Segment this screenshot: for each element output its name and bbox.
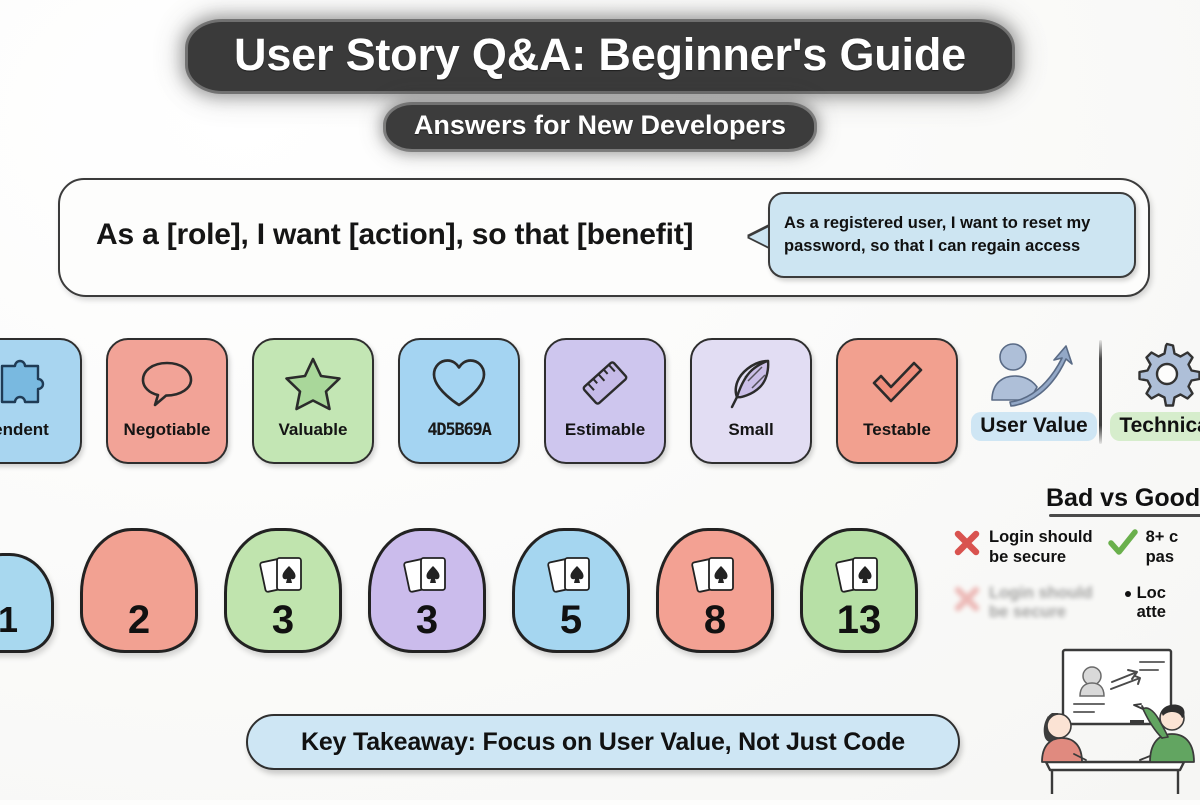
playing-cards-icon (545, 553, 597, 606)
good-column: 8+ cpas Locatte (1107, 528, 1179, 623)
story-point-3b[interactable]: 3 (368, 528, 486, 653)
invest-card-negotiable[interactable]: Negotiable (106, 338, 228, 464)
subtitle-container: Answers for New Developers (0, 105, 1200, 149)
invest-card-independent[interactable]: endent (0, 338, 82, 464)
star-icon (284, 352, 342, 414)
user-story-formula: As a [role], I want [action], so that [b… (96, 218, 693, 252)
technical-label: Technical (1110, 412, 1200, 441)
invest-label-estimable: Estimable (565, 420, 645, 440)
invest-card-row: endent Negotiable Valuable (0, 338, 958, 464)
bad-vs-good-columns: Login shouldbe secure Login shouldbe sec… (952, 528, 1178, 623)
green-check-icon (1107, 528, 1139, 563)
bad-vs-good-heading: Bad vs Good (1046, 484, 1200, 513)
invest-label-independent: endent (0, 420, 49, 440)
panel-divider (1099, 340, 1102, 444)
story-point-value: 3 (416, 600, 438, 640)
title-container: User Story Q&A: Beginner's Guide (0, 22, 1200, 91)
story-point-1[interactable]: 1 (0, 553, 54, 653)
bad-column: Login shouldbe secure Login shouldbe sec… (952, 528, 1093, 623)
bad-item-text: Login shouldbe secure (989, 528, 1093, 568)
key-takeaway-text: Key Takeaway: Focus on User Value, Not J… (301, 728, 905, 757)
infographic-canvas: User Story Q&A: Beginner's Guide Answers… (0, 0, 1200, 800)
invest-card-estimable[interactable]: Estimable (544, 338, 666, 464)
story-point-row: 1 2 3 3 (0, 528, 918, 653)
story-point-5[interactable]: 5 (512, 528, 630, 653)
user-value-item[interactable]: User Value (975, 336, 1093, 441)
puzzle-piece-icon (0, 352, 48, 414)
invest-label-negotiable: Negotiable (124, 420, 211, 440)
good-item: 8+ cpas (1107, 528, 1179, 568)
value-technical-panel: User Value Technical (975, 336, 1200, 444)
example-story-text: As a registered user, I want to reset my… (784, 212, 1120, 258)
story-point-value: 13 (837, 600, 882, 640)
invest-label-valuable: Valuable (279, 420, 348, 440)
good-bullet-item: Locatte (1125, 584, 1179, 624)
story-point-2[interactable]: 2 (80, 528, 198, 653)
example-speech-bubble: As a registered user, I want to reset my… (768, 192, 1136, 278)
story-point-value: 5 (560, 600, 582, 640)
speech-bubble-icon (138, 352, 196, 414)
page-subtitle: Answers for New Developers (386, 105, 814, 149)
invest-label-small: Small (728, 420, 773, 440)
bad-item: Login shouldbe secure (952, 528, 1093, 568)
technical-item[interactable]: Technical (1108, 336, 1200, 441)
good-item-text: 8+ cpas (1146, 528, 1179, 568)
bad-vs-good-underline (1049, 514, 1200, 517)
key-takeaway-banner: Key Takeaway: Focus on User Value, Not J… (246, 714, 960, 770)
gear-icon (1130, 336, 1200, 412)
playing-cards-icon (689, 553, 741, 606)
red-x-icon (952, 528, 982, 563)
story-point-value: 2 (128, 600, 150, 640)
story-point-value: 3 (272, 600, 294, 640)
invest-card-garbled[interactable]: 4D5B69A (398, 338, 520, 464)
playing-cards-icon (257, 553, 309, 606)
story-point-8[interactable]: 8 (656, 528, 774, 653)
story-point-13[interactable]: 13 (800, 528, 918, 653)
playing-cards-icon (401, 553, 453, 606)
red-x-icon (952, 584, 982, 619)
invest-card-small[interactable]: Small (690, 338, 812, 464)
page-title: User Story Q&A: Beginner's Guide (188, 22, 1012, 91)
invest-card-testable[interactable]: Testable (836, 338, 958, 464)
playing-cards-icon (833, 553, 885, 606)
team-presentation-illustration (1022, 634, 1200, 800)
story-point-value: 8 (704, 600, 726, 640)
story-point-3a[interactable]: 3 (224, 528, 342, 653)
bad-item-ghost-text: Login shouldbe secure (989, 584, 1093, 624)
person-growth-arrow-icon (982, 336, 1086, 412)
user-value-label: User Value (971, 412, 1096, 441)
heart-icon (430, 352, 488, 414)
invest-label-garbled: 4D5B69A (427, 420, 490, 440)
story-point-value: 1 (0, 602, 18, 638)
checkmark-icon (868, 352, 926, 414)
bullet-dot (1125, 591, 1131, 597)
invest-label-testable: Testable (863, 420, 931, 440)
invest-card-valuable[interactable]: Valuable (252, 338, 374, 464)
bad-item-ghost: Login shouldbe secure (952, 584, 1093, 624)
ruler-icon (576, 352, 634, 414)
good-bullet-text: Locatte (1137, 584, 1166, 624)
feather-icon (724, 352, 778, 414)
